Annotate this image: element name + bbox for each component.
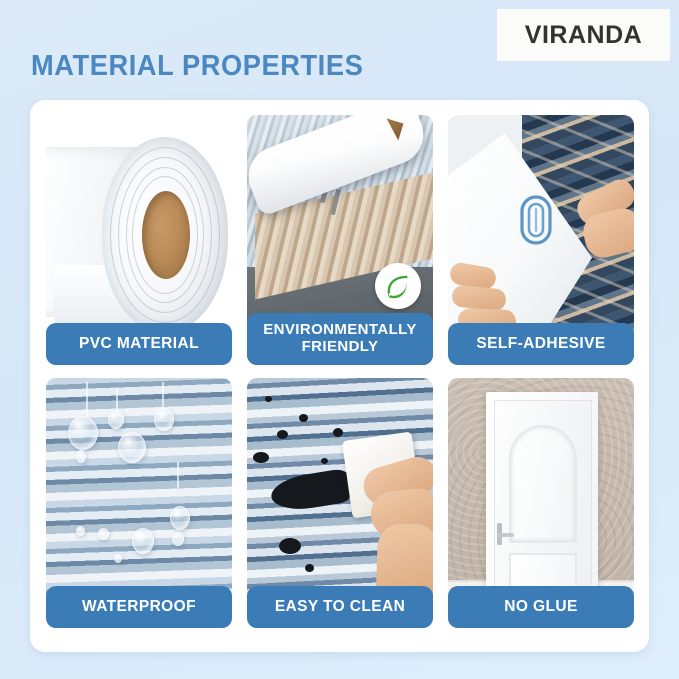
feature-label-environmentally-friendly: ENVIRONMENTALLY FRIENDLY (247, 313, 433, 365)
feature-card-pvc-material[interactable]: PVC MATERIAL (46, 115, 232, 365)
feature-label-pvc-material: PVC MATERIAL (46, 323, 232, 365)
brand-name: VIRANDA (525, 21, 642, 50)
feature-card-easy-to-clean[interactable]: EASY TO CLEAN (247, 378, 433, 628)
feature-card-no-glue[interactable]: NO GLUE (448, 378, 634, 628)
feature-label-self-adhesive: SELF-ADHESIVE (448, 323, 634, 365)
feature-label-waterproof: WATERPROOF (46, 586, 232, 628)
paperclip-icon (516, 193, 556, 247)
feature-grid: PVC MATERIAL ENVIRONMENTALLY FR (46, 115, 634, 628)
leaf-icon (375, 263, 421, 309)
feature-card-self-adhesive[interactable]: SELF-ADHESIVE (448, 115, 634, 365)
feature-card-environmentally-friendly[interactable]: ENVIRONMENTALLY FRIENDLY (247, 115, 433, 365)
feature-label-no-glue: NO GLUE (448, 586, 634, 628)
page-title: MATERIAL PROPERTIES (31, 50, 363, 83)
feature-label-easy-to-clean: EASY TO CLEAN (247, 586, 433, 628)
brand-logo: VIRANDA (497, 9, 670, 61)
infographic-page: VIRANDA MATERIAL PROPERTIES PVC MATERIAL (0, 0, 679, 679)
feature-card-waterproof[interactable]: WATERPROOF (46, 378, 232, 628)
